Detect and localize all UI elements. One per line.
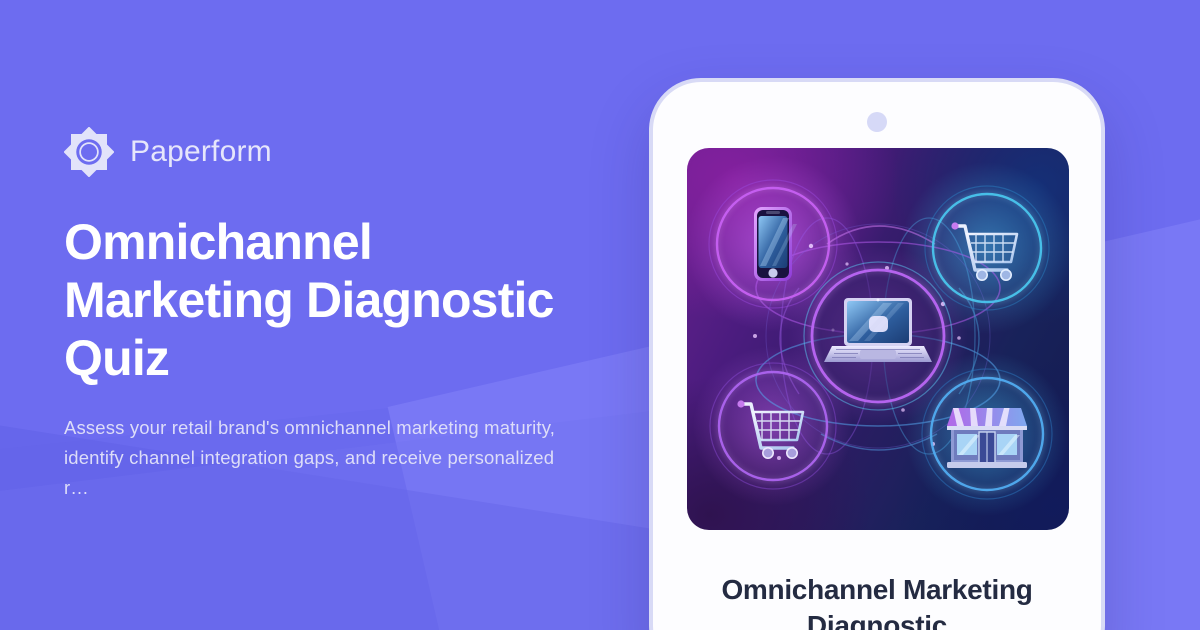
form-title: Omnichannel Marketing Diagnostic xyxy=(683,572,1071,630)
brand-name: Paperform xyxy=(130,137,272,167)
hero-content: Paperform Omnichannel Marketing Diagnost… xyxy=(64,0,624,630)
brand-lockup: Paperform xyxy=(64,127,624,177)
form-cover-image xyxy=(687,148,1069,530)
phone-mockup: Omnichannel Marketing Diagnostic xyxy=(649,78,1105,630)
page-title: Omnichannel Marketing Diagnostic Quiz xyxy=(64,213,604,387)
page-description: Assess your retail brand's omnichannel m… xyxy=(64,413,564,503)
paperform-star-logo-icon xyxy=(64,127,114,177)
phone-frame: Omnichannel Marketing Diagnostic xyxy=(649,78,1105,630)
phone-camera-dot-icon xyxy=(867,112,887,132)
